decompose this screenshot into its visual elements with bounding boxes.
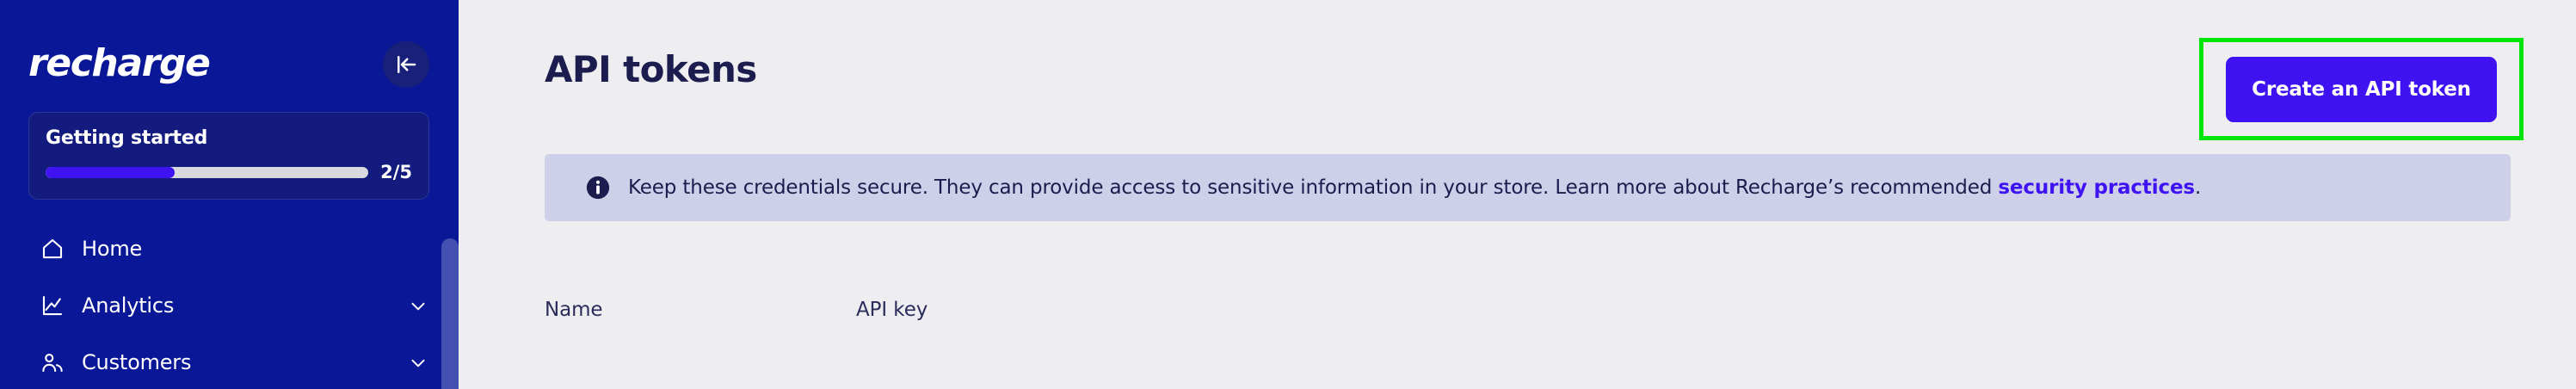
- sidebar-nav: Home Analytics: [0, 220, 459, 389]
- getting-started-card[interactable]: Getting started 2/5: [28, 112, 429, 200]
- sidebar: recharge Getting started 2/5: [0, 0, 459, 389]
- brand-logo[interactable]: recharge: [28, 45, 209, 83]
- create-api-token-highlight: Create an API token: [2199, 38, 2524, 140]
- banner-text-after-link: .: [2195, 176, 2201, 199]
- info-icon: [585, 175, 611, 201]
- security-info-banner: Keep these credentials secure. They can …: [545, 154, 2511, 221]
- sidebar-item-label: Analytics: [82, 293, 407, 318]
- sidebar-item-label: Home: [82, 237, 429, 261]
- home-icon: [40, 236, 65, 262]
- getting-started-progress-row: 2/5: [46, 162, 412, 182]
- sidebar-item-analytics[interactable]: Analytics: [0, 277, 459, 334]
- sidebar-item-label: Customers: [82, 350, 407, 374]
- banner-text-before-link: Keep these credentials secure. They can …: [628, 176, 1998, 199]
- getting-started-title: Getting started: [46, 127, 412, 149]
- collapse-sidebar-button[interactable]: [383, 41, 429, 88]
- sidebar-item-home[interactable]: Home: [0, 220, 459, 277]
- app-root: recharge Getting started 2/5: [0, 0, 2576, 389]
- security-practices-link[interactable]: security practices: [1998, 176, 2195, 199]
- chevron-down-icon[interactable]: [407, 351, 429, 374]
- create-api-token-button[interactable]: Create an API token: [2226, 57, 2497, 122]
- api-tokens-table-header: Name API key: [545, 284, 2511, 336]
- chevron-down-icon[interactable]: [407, 294, 429, 317]
- getting-started-progress-count: 2/5: [380, 162, 412, 182]
- analytics-icon: [40, 293, 65, 318]
- main-content: API tokens Create an API token Keep thes…: [459, 0, 2576, 389]
- column-header-name: Name: [545, 299, 856, 321]
- sidebar-item-customers[interactable]: Customers: [0, 334, 459, 389]
- sidebar-header: recharge: [0, 0, 459, 88]
- column-header-api-key: API key: [856, 299, 927, 321]
- collapse-panel-icon: [393, 52, 419, 77]
- getting-started-progress-bar: [46, 167, 368, 178]
- sidebar-scrollbar[interactable]: [441, 238, 459, 389]
- sidebar-scrollbar-thumb[interactable]: [441, 238, 459, 389]
- getting-started-progress-fill: [46, 167, 175, 178]
- page-title: API tokens: [545, 48, 757, 90]
- customers-icon: [40, 349, 65, 375]
- security-info-banner-text: Keep these credentials secure. They can …: [628, 176, 2201, 199]
